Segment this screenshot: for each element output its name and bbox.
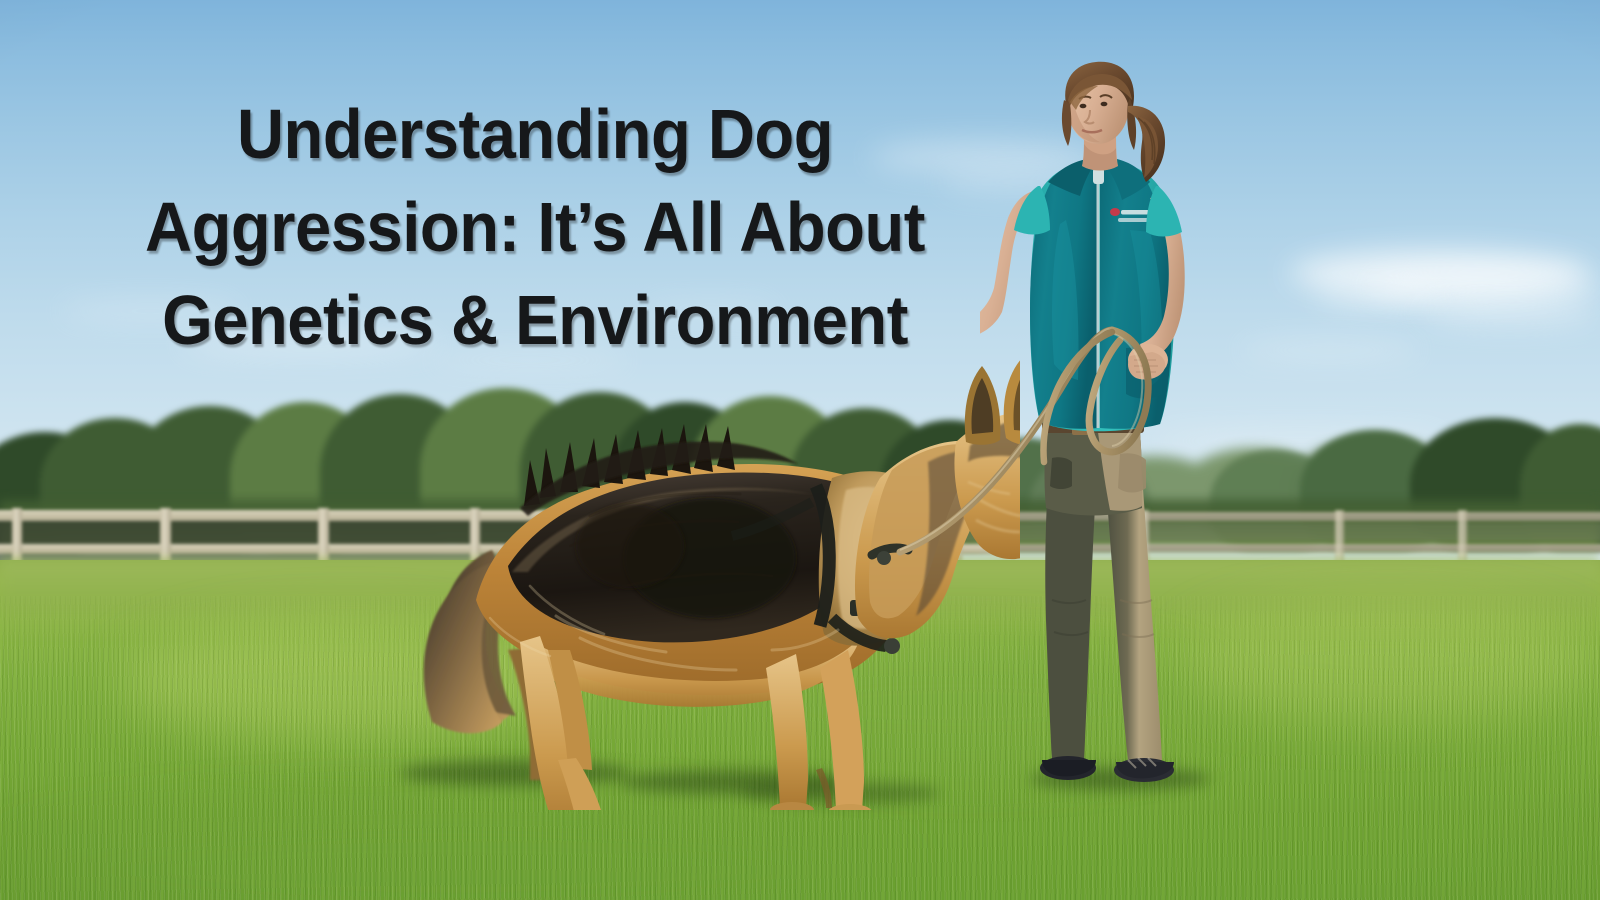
german-shepherd-dog bbox=[380, 350, 1020, 810]
title-line-1: Understanding Dog bbox=[93, 88, 977, 181]
harness-ring bbox=[884, 638, 900, 654]
photo-canvas: Understanding Dog Aggression: It’s All A… bbox=[0, 0, 1600, 900]
cargo-pocket-left bbox=[1050, 457, 1072, 489]
trainer-eye-right bbox=[1101, 102, 1108, 107]
title-line-3: Genetics & Environment bbox=[93, 274, 977, 367]
trainer-eye-left bbox=[1080, 104, 1087, 109]
cargo-pocket-right bbox=[1118, 453, 1146, 492]
dog-trainer-person bbox=[980, 60, 1280, 790]
dog-illustration bbox=[380, 350, 1020, 810]
title-line-2: Aggression: It’s All About bbox=[93, 181, 977, 274]
trainer-illustration bbox=[980, 60, 1280, 790]
page-title: Understanding Dog Aggression: It’s All A… bbox=[93, 88, 977, 367]
